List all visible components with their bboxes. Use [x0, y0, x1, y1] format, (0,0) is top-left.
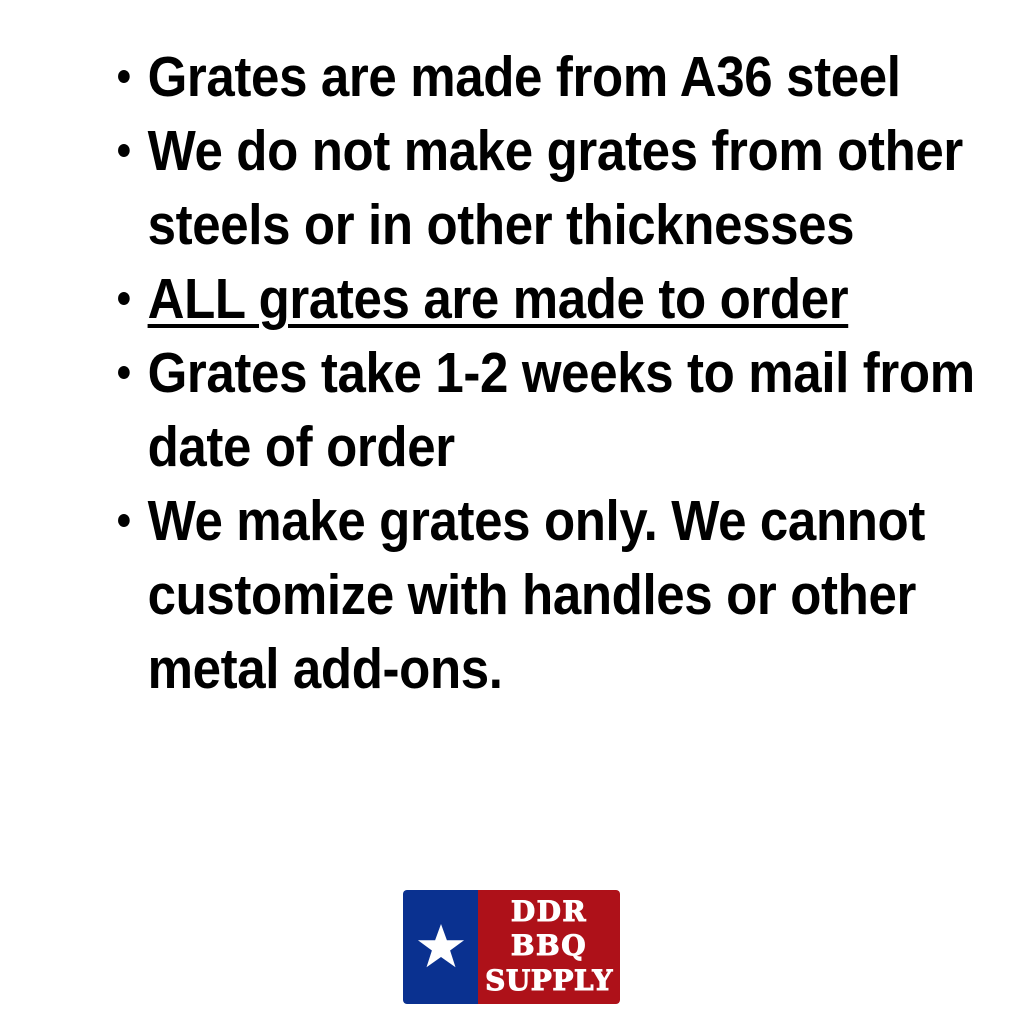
logo-red-panel: DDR BBQ SUPPLY	[478, 890, 620, 1004]
list-item: Grates take 1-2 weeks to mail from date …	[110, 336, 1024, 484]
bullet-point-icon	[117, 484, 137, 558]
list-item-label: We do not make grates from other steels …	[148, 119, 963, 257]
list-item-label: Grates take 1-2 weeks to mail from date …	[148, 341, 975, 479]
list-item: Grates are made from A36 steel	[110, 40, 1024, 114]
list-item-label-emphasized: ALL grates are made to order	[148, 267, 849, 331]
list-item: We make grates only. We cannot customize…	[110, 484, 1024, 706]
bullet-point-icon	[117, 262, 137, 336]
logo-text-line-2: BBQ	[511, 929, 587, 963]
list-item: We do not make grates from other steels …	[110, 114, 1024, 262]
brand-logo: DDR BBQ SUPPLY	[403, 890, 620, 1004]
list-item-label: Grates are made from A36 steel	[148, 45, 901, 109]
logo-text-line-3: SUPPLY	[485, 963, 613, 999]
list-item-label: We make grates only. We cannot customize…	[148, 489, 925, 701]
page-root: Grates are made from A36 steel We do not…	[0, 0, 1024, 1024]
list-item: ALL grates are made to order	[110, 262, 1024, 336]
texas-star-icon	[416, 922, 466, 972]
logo-text-line-1: DDR	[511, 895, 587, 929]
logo-blue-panel	[403, 890, 478, 1004]
bullet-point-icon	[117, 336, 137, 410]
bullet-point-icon	[117, 40, 137, 114]
product-notes-list: Grates are made from A36 steel We do not…	[110, 40, 970, 706]
bullet-point-icon	[117, 114, 137, 188]
